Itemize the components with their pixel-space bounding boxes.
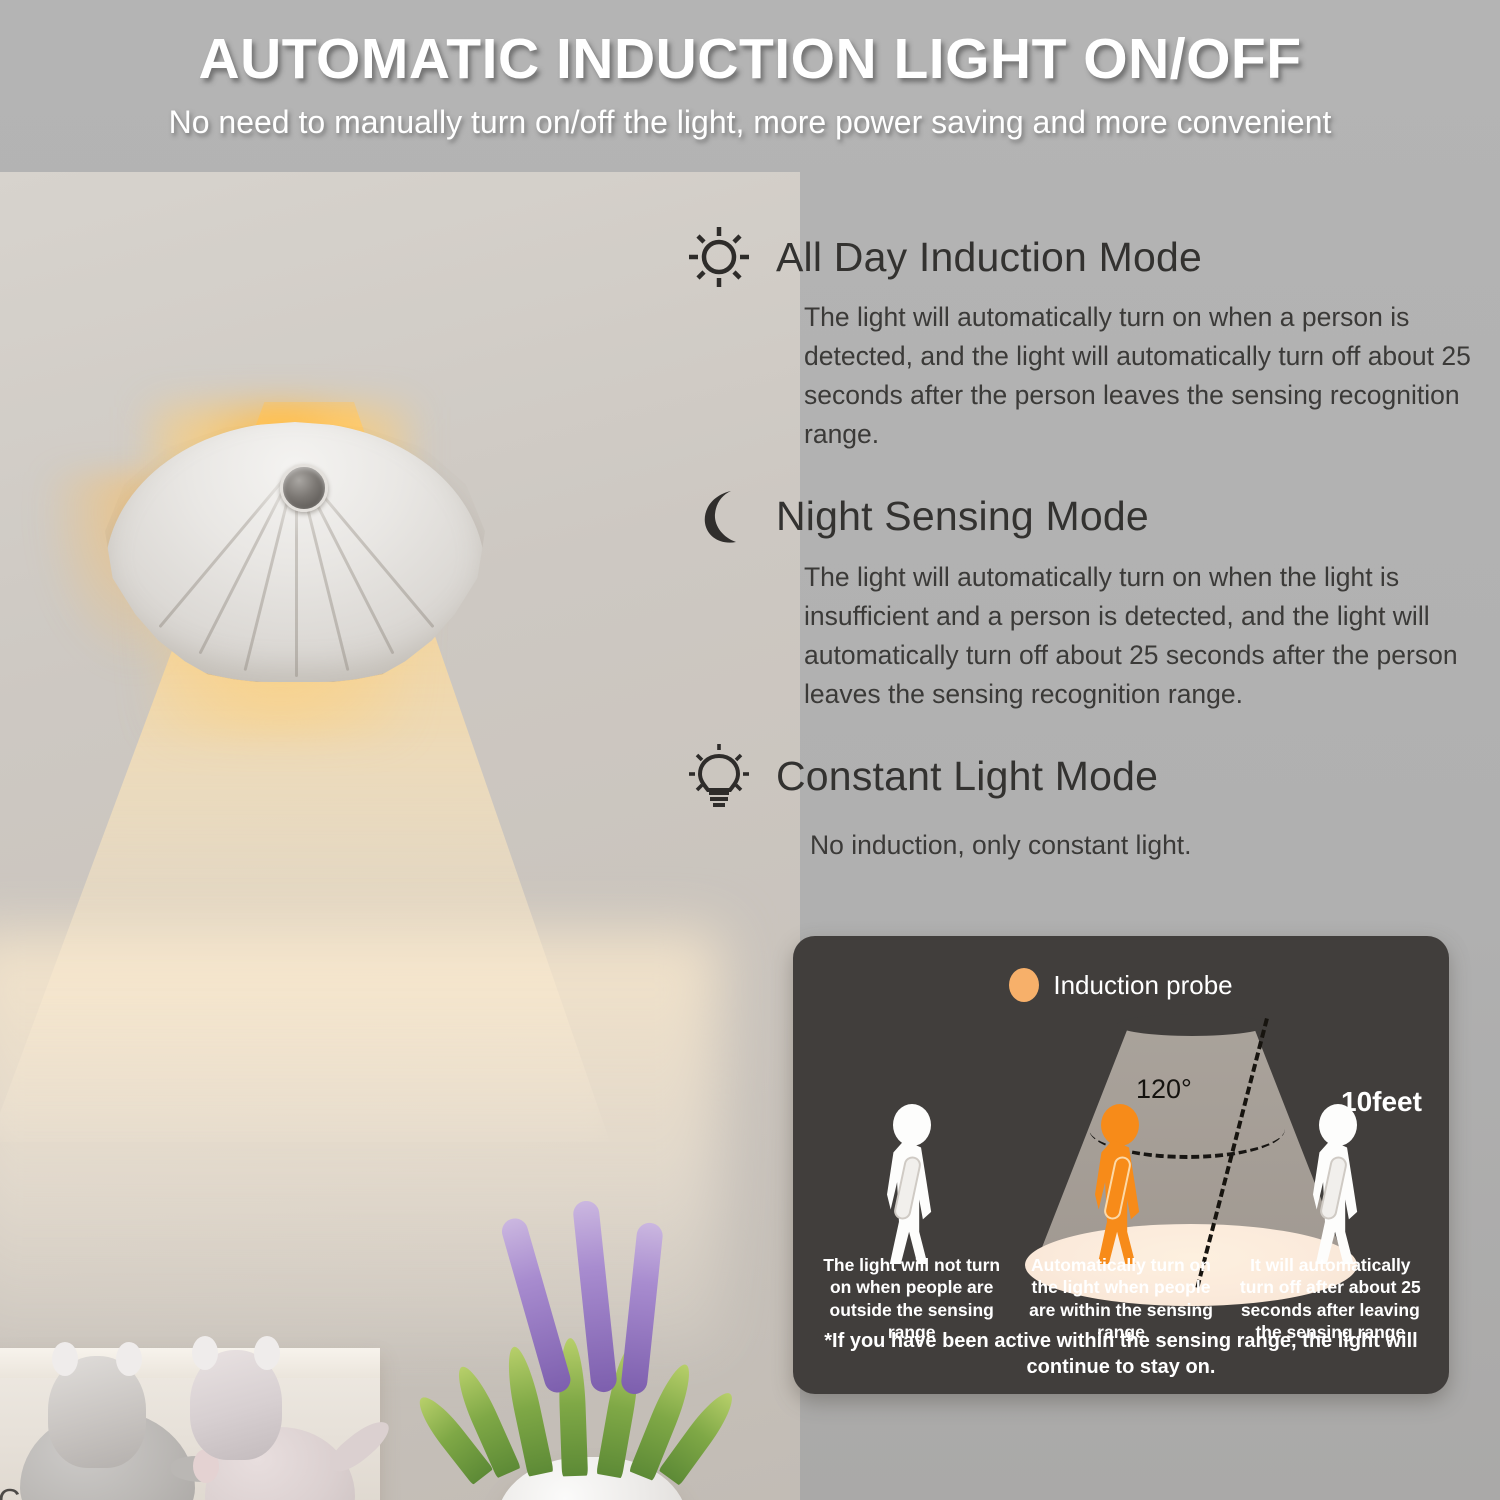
feature-body: The light will automatically turn on whe… [804,298,1474,454]
moon-icon [684,482,754,552]
product-photo: CRAFTS [0,172,800,1500]
feature-list: All Day Induction Mode The light will au… [684,222,1474,879]
motion-sensor-dome [280,464,328,512]
induction-probe-legend: Induction probe [793,968,1449,1002]
probe-label: Induction probe [1053,970,1232,1001]
feature-title: Constant Light Mode [776,753,1158,800]
doll-figurine-right [190,1350,282,1460]
sun-icon [684,222,754,292]
feature-night-sensing-mode: Night Sensing Mode The light will automa… [684,482,1474,714]
lightbulb-icon [684,742,754,812]
infographic-canvas: AUTOMATIC INDUCTION LIGHT ON/OFF No need… [0,0,1500,1500]
person-outside-left [885,1104,937,1264]
feature-body: The light will automatically turn on whe… [804,558,1474,714]
cone-top-cap [1117,1014,1267,1036]
person-inside-center [1093,1104,1145,1264]
floor-glow [0,932,720,1352]
probe-dot-icon [1009,968,1039,1002]
feature-title: All Day Induction Mode [776,234,1202,281]
diagram-footnote: *If you have been active within the sens… [793,1328,1449,1380]
feature-constant-light-mode: Constant Light Mode No induction, only c… [684,742,1474,865]
page-title: AUTOMATIC INDUCTION LIGHT ON/OFF [0,26,1500,92]
feature-title: Night Sensing Mode [776,493,1149,540]
feature-all-day-induction-mode: All Day Induction Mode The light will au… [684,222,1474,454]
wall-lamp [105,422,485,682]
page-subtitle: No need to manually turn on/off the ligh… [0,104,1500,141]
person-outside-right [1311,1104,1363,1264]
sensing-range-diagram: Induction probe 120° 10feet The light wi… [793,936,1449,1394]
lamp-shell [105,422,485,682]
header: AUTOMATIC INDUCTION LIGHT ON/OFF No need… [0,0,1500,172]
angle-label: 120° [1136,1074,1192,1105]
doll-figurine-left [48,1356,146,1468]
feature-body: No induction, only constant light. [810,826,1474,865]
